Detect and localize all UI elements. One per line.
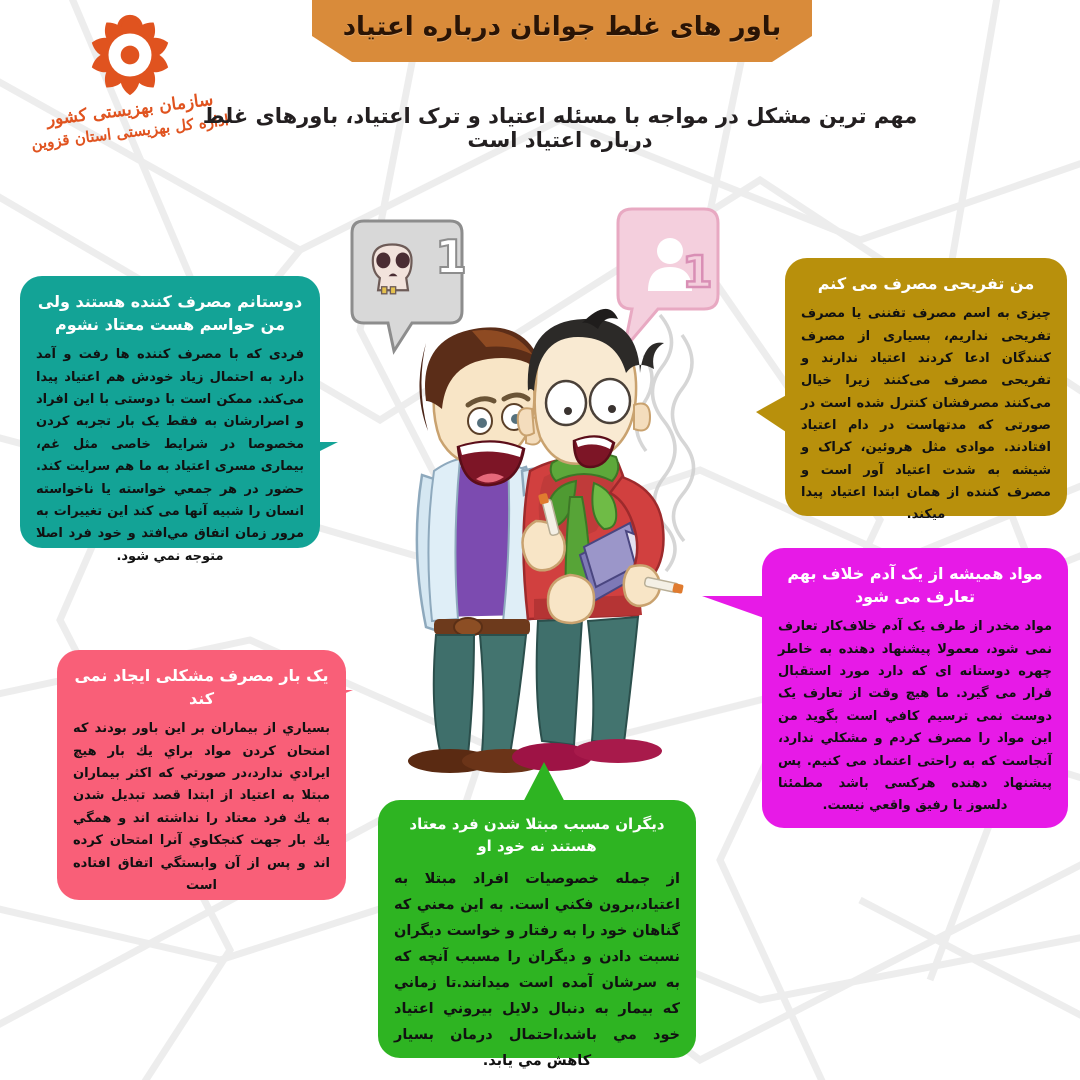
skull-speech-bubble: 1 — [352, 221, 467, 351]
magenta-bubble-tail — [702, 596, 764, 652]
callout-title: مواد همیشه از یک آدم خلاف بهم تعارف می ش… — [778, 562, 1052, 608]
skull-bubble-count: 1 — [435, 230, 467, 284]
callout-one-time-use-harmless[interactable]: یک بار مصرف مشکلی ایجاد نمی کند بسیاري ا… — [57, 650, 346, 900]
callout-body: چیزی به اسم مصرف تفننی یا مصرف تفریحی ند… — [801, 303, 1051, 527]
callout-body: مواد مخدر از طرف یک آدم خلاف‌کار تعارف ن… — [778, 616, 1052, 817]
callout-body: از جمله خصوصیات افراد مبتلا به اعتیاد،بر… — [394, 866, 680, 1075]
page-title: باور های غلط جوانان درباره اعتیاد — [312, 0, 812, 62]
callout-title: من تفریحی مصرف می کنم — [801, 272, 1051, 295]
illustration-two-boys: 1 1 — [330, 195, 750, 785]
callout-recreational-use[interactable]: من تفریحی مصرف می کنم چیزی به اسم مصرف ت… — [785, 258, 1067, 516]
title-banner: باور های غلط جوانان درباره اعتیاد — [312, 0, 812, 62]
behzisti-flower-icon — [70, 12, 190, 98]
callout-title: دیگران مسبب مبتلا شدن فرد معتاد هستند نه… — [394, 814, 680, 858]
callout-others-are-the-cause[interactable]: دیگران مسبب مبتلا شدن فرد معتاد هستند نه… — [378, 800, 696, 1058]
callout-body: فردی که با مصرف کننده ها رفت و آمد دارد … — [36, 344, 304, 568]
person-bubble-count: 1 — [682, 247, 713, 298]
callout-title: یک بار مصرف مشکلی ایجاد نمی کند — [73, 664, 330, 710]
right-boy — [512, 309, 684, 771]
callout-body: بسیاري از بیماران بر این باور بودند که ا… — [73, 718, 330, 897]
callout-drugs-offered-by-criminals[interactable]: مواد همیشه از یک آدم خلاف بهم تعارف می ش… — [762, 548, 1068, 828]
callout-friends-users-but-i-wont[interactable]: دوستانم مصرف کننده هستند ولی من حواسم هس… — [20, 276, 320, 548]
infographic-page: سازمان بهزیستی کشور اداره کل بهزیستی است… — [0, 0, 1080, 1080]
callout-title: دوستانم مصرف کننده هستند ولی من حواسم هس… — [36, 290, 304, 336]
page-subtitle: مهم ترین مشکل در مواجه با مسئله اعتیاد و… — [180, 104, 940, 152]
